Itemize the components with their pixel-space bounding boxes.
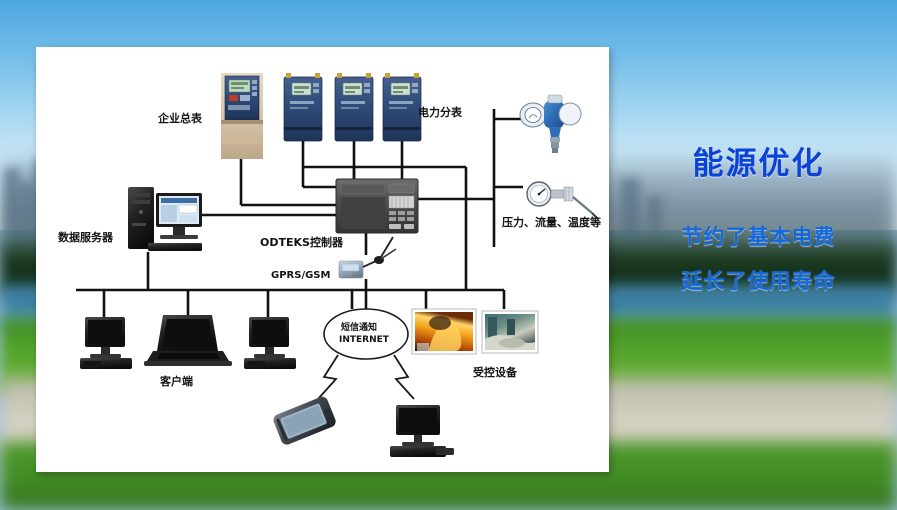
- label-controlled-equipment: 受控设备: [473, 367, 517, 379]
- sub-meter-1: [284, 73, 322, 141]
- temperature-gauge: [527, 182, 598, 219]
- network-topology-diagram: [36, 47, 609, 472]
- enterprise-meter-device: [221, 73, 263, 159]
- heading-energy-optimization: 能源优化: [620, 138, 897, 183]
- mobile-phone: [272, 395, 338, 446]
- benefit-line-1: 节约了基本电费: [620, 221, 897, 251]
- client-laptop: [144, 315, 232, 366]
- slide-canvas: 企业总表 电力分表 数据服务器 ODTEKS控制器 GPRS/GSM 压力、流量…: [0, 0, 897, 510]
- internet-cloud: [324, 309, 408, 359]
- furnace-photo: [412, 309, 476, 354]
- label-gprs-gsm: GPRS/GSM: [271, 271, 330, 282]
- gprs-modem: [339, 237, 396, 278]
- label-sms-notification: 短信通知: [341, 324, 377, 333]
- sub-meter-2: [335, 73, 373, 141]
- label-data-server: 数据服务器: [58, 232, 113, 244]
- server-tower: [128, 187, 202, 251]
- right-text-block: 能源优化 节约了基本电费 延长了使用寿命: [620, 138, 897, 295]
- pressure-transmitter: [520, 95, 581, 153]
- city-building: [20, 182, 33, 234]
- diagram-panel: 企业总表 电力分表 数据服务器 ODTEKS控制器 GPRS/GSM 压力、流量…: [36, 47, 609, 472]
- client-pc-1: [80, 317, 132, 369]
- label-sensors: 压力、流量、温度等: [502, 217, 601, 229]
- controller-unit: [336, 179, 418, 233]
- city-building: [4, 168, 20, 234]
- wireless-link-icon: [318, 355, 414, 399]
- remote-pc: [390, 405, 454, 457]
- label-internet: INTERNET: [339, 336, 389, 345]
- sub-meter-3: [383, 73, 421, 141]
- label-enterprise-main-meter: 企业总表: [158, 113, 202, 125]
- benefit-line-2: 延长了使用寿命: [620, 265, 897, 295]
- label-odteks-controller: ODTEKS控制器: [260, 237, 343, 249]
- label-power-sub-meters: 电力分表: [418, 107, 462, 119]
- client-pc-2: [244, 317, 296, 369]
- label-client-terminals: 客户端: [160, 376, 193, 388]
- equipment-photo: [482, 311, 538, 353]
